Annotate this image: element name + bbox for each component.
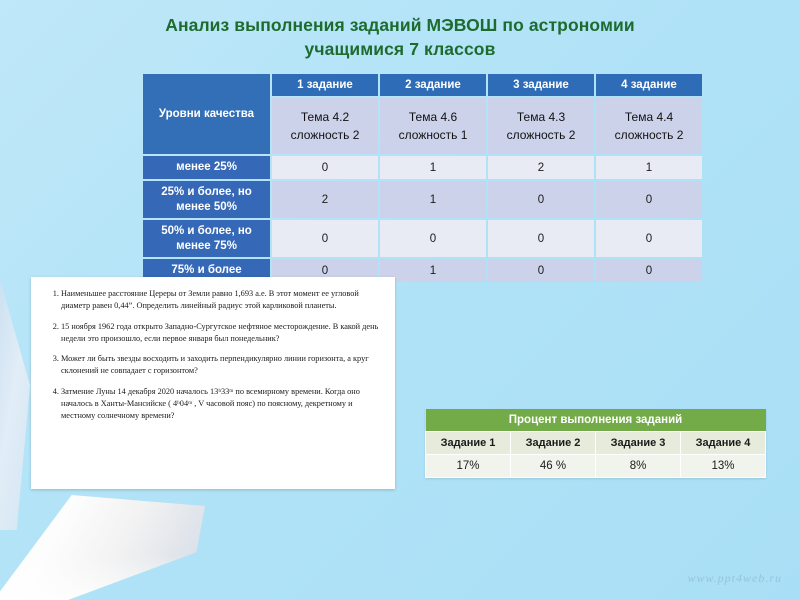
cell-3-2: 0 <box>488 259 594 282</box>
task-header-3: 3 задание <box>488 74 594 96</box>
task-difficulty-3: сложность 2 <box>491 126 591 144</box>
cell-1-0: 2 <box>272 181 378 218</box>
completion-percent-table: Процент выполнения заданий Задание 1 Зад… <box>425 409 766 478</box>
list-item: Может ли быть звезды восходить и заходит… <box>61 353 381 377</box>
cell-2-2: 0 <box>488 220 594 257</box>
task-header-1: 1 задание <box>272 74 378 96</box>
pct-header-3: Задание 3 <box>596 432 681 455</box>
problems-document-panel: Наименьшее расстояние Цереры от Земли ра… <box>31 277 395 489</box>
cell-1-1: 1 <box>380 181 486 218</box>
pct-value-3: 8% <box>596 455 681 478</box>
row-label-1-line-2: менее 50% <box>146 200 267 214</box>
row-label-0: менее 25% <box>143 156 270 179</box>
cell-3-1: 1 <box>380 259 486 282</box>
pct-title-row: Процент выполнения заданий <box>426 409 766 432</box>
pct-table-title: Процент выполнения заданий <box>426 409 766 432</box>
pct-header-2: Задание 2 <box>511 432 596 455</box>
task-subheader-2: Тема 4.6 сложность 1 <box>380 98 486 154</box>
task-header-2: 2 задание <box>380 74 486 96</box>
table-row: 50% и более, но менее 75% 0 0 0 0 <box>143 220 702 257</box>
pct-value-1: 17% <box>426 455 511 478</box>
table-row: 25% и более, но менее 50% 2 1 0 0 <box>143 181 702 218</box>
row-label-2: 50% и более, но менее 75% <box>143 220 270 257</box>
problems-list: Наименьшее расстояние Цереры от Земли ра… <box>31 277 395 422</box>
task-topic-1: Тема 4.2 <box>275 108 375 126</box>
table-row: менее 25% 0 1 2 1 <box>143 156 702 179</box>
pct-value-row: 17% 46 % 8% 13% <box>426 455 766 478</box>
cell-0-3: 1 <box>596 156 702 179</box>
pct-header-4: Задание 4 <box>681 432 766 455</box>
cell-1-2: 0 <box>488 181 594 218</box>
watermark-text: www.ppt4web.ru <box>688 571 782 586</box>
row-label-1: 25% и более, но менее 50% <box>143 181 270 218</box>
cell-1-3: 0 <box>596 181 702 218</box>
task-topic-2: Тема 4.6 <box>383 108 483 126</box>
page-title-line-1: Анализ выполнения заданий МЭВОШ по астро… <box>120 14 680 38</box>
pct-value-2: 46 % <box>511 455 596 478</box>
cell-3-3: 0 <box>596 259 702 282</box>
task-header-4: 4 задание <box>596 74 702 96</box>
cell-2-1: 0 <box>380 220 486 257</box>
row-label-2-line-1: 50% и более, но <box>146 224 267 238</box>
list-item: Наименьшее расстояние Цереры от Земли ра… <box>61 288 381 312</box>
task-subheader-4: Тема 4.4 сложность 2 <box>596 98 702 154</box>
task-subheader-3: Тема 4.3 сложность 2 <box>488 98 594 154</box>
list-item: Затмение Луны 14 декабря 2020 началось 1… <box>61 386 381 422</box>
table-header-row: Уровни качества 1 задание 2 задание 3 за… <box>143 74 702 96</box>
row-label-2-line-2: менее 75% <box>146 239 267 253</box>
page-title-line-2: учащимися 7 классов <box>120 38 680 62</box>
task-topic-3: Тема 4.3 <box>491 108 591 126</box>
cell-2-0: 0 <box>272 220 378 257</box>
quality-levels-table: Уровни качества 1 задание 2 задание 3 за… <box>141 72 704 284</box>
pct-header-1: Задание 1 <box>426 432 511 455</box>
cell-0-2: 2 <box>488 156 594 179</box>
row-label-1-line-1: 25% и более, но <box>146 185 267 199</box>
task-difficulty-4: сложность 2 <box>599 126 699 144</box>
cell-0-1: 1 <box>380 156 486 179</box>
task-topic-4: Тема 4.4 <box>599 108 699 126</box>
cell-0-0: 0 <box>272 156 378 179</box>
table-corner-label: Уровни качества <box>143 74 270 154</box>
page-title: Анализ выполнения заданий МЭВОШ по астро… <box>120 14 680 61</box>
pct-value-4: 13% <box>681 455 766 478</box>
list-item: 15 ноября 1962 года открыто Западно-Сург… <box>61 321 381 345</box>
pct-header-row: Задание 1 Задание 2 Задание 3 Задание 4 <box>426 432 766 455</box>
task-subheader-1: Тема 4.2 сложность 2 <box>272 98 378 154</box>
cell-2-3: 0 <box>596 220 702 257</box>
task-difficulty-1: сложность 2 <box>275 126 375 144</box>
task-difficulty-2: сложность 1 <box>383 126 483 144</box>
